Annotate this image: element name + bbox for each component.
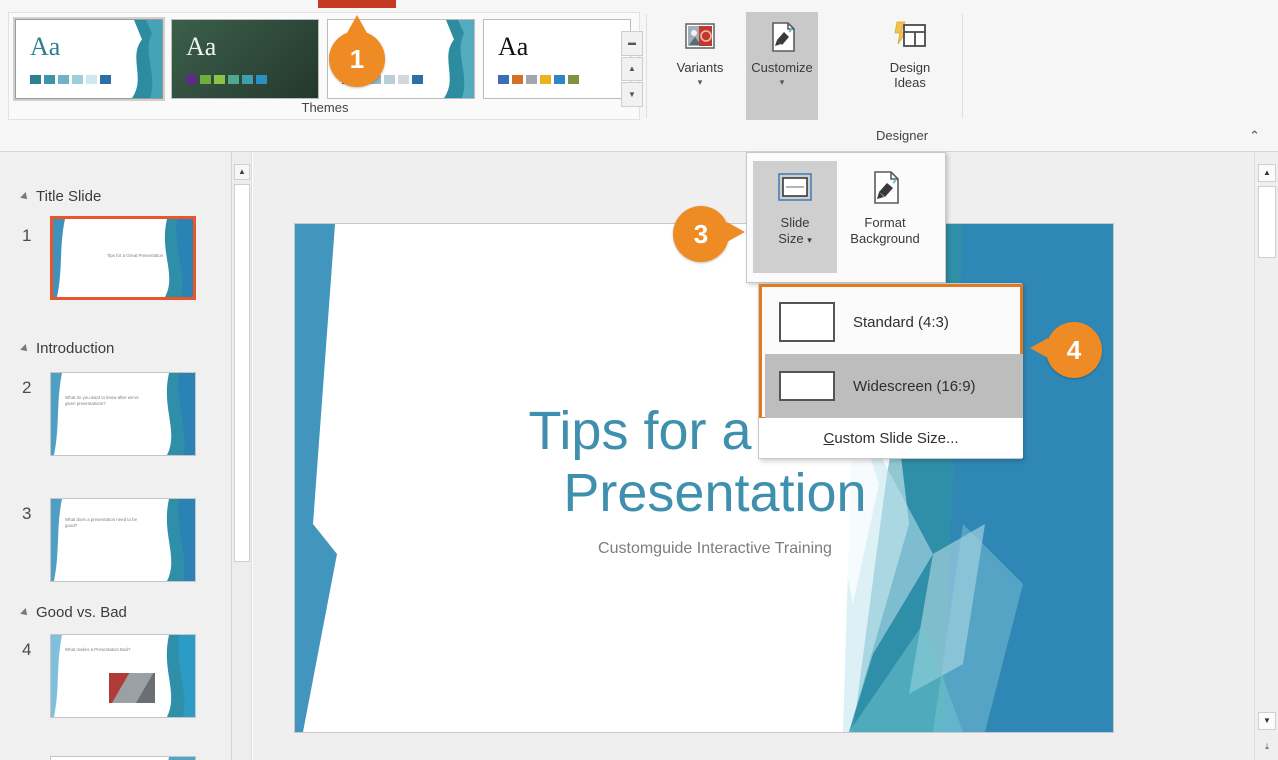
thumb-wave-right-icon <box>161 373 195 455</box>
design-ideas-button[interactable]: Design Ideas <box>874 12 946 120</box>
slide-thumbnail-5[interactable] <box>50 756 196 760</box>
widescreen-ratio-icon <box>779 371 835 401</box>
slide-thumbnail-4[interactable]: What makes a Presentation Bad? <box>50 634 196 718</box>
chevron-down-icon: ▾ <box>698 77 703 88</box>
section-label: Good vs. Bad <box>36 604 127 621</box>
variants-label: Variants <box>677 60 724 75</box>
thumb-preview-text: What makes a Presentation Bad? <box>65 647 155 653</box>
theme-tile-2[interactable]: Aa <box>171 19 319 99</box>
variants-icon <box>683 20 717 54</box>
group-separator <box>962 14 963 118</box>
customize-button[interactable]: Customize ▾ <box>746 12 818 120</box>
callout-pointer-icon <box>1030 338 1048 358</box>
theme-swatches <box>498 75 579 84</box>
themes-gallery-group: Aa Aa Aa <box>8 12 640 120</box>
scroll-up-button[interactable]: ▲ <box>1258 164 1276 182</box>
slide-size-flyout-menu: Standard (4:3) Widescreen (16:9) Custom … <box>758 283 1022 459</box>
design-ideas-icon <box>893 20 927 54</box>
widescreen-option-label: Widescreen (16:9) <box>853 378 976 395</box>
customize-label: Customize <box>751 60 812 75</box>
design-ideas-label-line2: Ideas <box>894 75 926 90</box>
next-slide-button[interactable]: ⤓ <box>1258 738 1276 756</box>
thumbnail-pane-scrollbar[interactable]: ▲ <box>232 152 252 760</box>
thumb-wave-left-icon <box>51 373 65 455</box>
thumb-photo-placeholder <box>109 673 155 703</box>
slide-number-4: 4 <box>22 640 31 660</box>
thumb-wave-left-icon <box>53 219 67 297</box>
format-background-icon <box>866 169 904 207</box>
scrollbar-thumb[interactable] <box>234 184 250 562</box>
thumb-wave-left-icon <box>51 499 65 581</box>
section-introduction[interactable]: Introduction <box>22 340 114 357</box>
theme-wave-icon <box>436 20 475 98</box>
theme-sample-text: Aa <box>30 32 60 62</box>
customize-dropdown-menu: Slide Size ▾ Format Background <box>746 152 946 283</box>
callout-badge-number: 1 <box>350 44 364 75</box>
themes-scroll-up-button[interactable]: ▬ <box>621 31 643 56</box>
callout-badge-1: 1 <box>329 31 385 87</box>
slide-thumbnail-3[interactable]: What does a presentation need to be good… <box>50 498 196 582</box>
section-label: Title Slide <box>36 188 101 205</box>
theme-swatches <box>186 75 267 84</box>
section-title-slide[interactable]: Title Slide <box>22 188 101 205</box>
collapse-triangle-icon <box>20 344 30 354</box>
themes-group-label: Themes <box>9 100 641 115</box>
chevron-down-icon: ▾ <box>780 77 785 88</box>
slide-size-icon <box>776 169 814 207</box>
thumb-wave-right-icon <box>161 499 195 581</box>
thumb-wave-right-icon <box>161 635 195 717</box>
slide-size-options-highlight: Standard (4:3) Widescreen (16:9) <box>759 284 1023 420</box>
collapse-ribbon-button[interactable]: ⌃ <box>1243 127 1266 145</box>
theme-swatches <box>30 75 111 84</box>
themes-scroll-down-button[interactable]: ▲ <box>621 57 643 82</box>
callout-pointer-icon <box>727 222 745 242</box>
slide-thumbnail-2[interactable]: What do you want to know after we've giv… <box>50 372 196 456</box>
slide-size-menu-item[interactable]: Slide Size ▾ <box>753 161 837 273</box>
ribbon-design-tab: Aa Aa Aa <box>0 0 1278 152</box>
callout-badge-number: 3 <box>694 219 708 250</box>
custom-slide-size-label: ustom Slide Size... <box>834 430 958 447</box>
section-label: Introduction <box>36 340 114 357</box>
themes-gallery-nav: ▬ ▲ ▼ <box>621 31 643 107</box>
slide-size-label-line1: Slide <box>781 215 810 231</box>
slide-number-1: 1 <box>22 226 31 246</box>
slide-number-2: 2 <box>22 378 31 398</box>
format-background-label-line2: Background <box>850 231 919 247</box>
thumb-preview-text: What does a presentation need to be good… <box>65 517 141 529</box>
scroll-down-button[interactable]: ▼ <box>1258 712 1276 730</box>
section-good-vs-bad[interactable]: Good vs. Bad <box>22 604 127 621</box>
slide-number-3: 3 <box>22 504 31 524</box>
format-background-menu-item[interactable]: Format Background <box>843 161 927 273</box>
custom-slide-size-mnemonic: C <box>823 430 834 447</box>
slide-thumbnail-pane[interactable]: Title Slide 1 Tips for a Great Presentat… <box>0 152 232 760</box>
group-separator <box>646 14 647 118</box>
callout-badge-4: 4 <box>1046 322 1102 378</box>
slide-title-line2: Presentation <box>405 462 1025 524</box>
design-ideas-label-line1: Design <box>890 60 930 75</box>
theme-tile-4[interactable]: Aa <box>483 19 631 99</box>
theme-tile-1[interactable]: Aa <box>15 19 163 99</box>
themes-gallery-strip: Aa Aa Aa <box>15 19 631 99</box>
callout-badge-3: 3 <box>673 206 729 262</box>
designer-group-label: Designer <box>876 128 928 143</box>
variants-button[interactable]: Variants ▾ <box>664 12 736 120</box>
slide-left-wedge-decoration <box>295 224 391 732</box>
custom-slide-size-item[interactable]: Custom Slide Size... <box>759 418 1023 458</box>
slide-size-option-widescreen[interactable]: Widescreen (16:9) <box>765 354 1023 418</box>
scrollbar-thumb[interactable] <box>1258 186 1276 258</box>
customize-icon <box>765 20 799 54</box>
theme-sample-text: Aa <box>186 32 216 62</box>
scroll-up-button[interactable]: ▲ <box>234 164 250 180</box>
active-tab-indicator <box>318 0 396 8</box>
canvas-scrollbar[interactable]: ▲ ▼ ⤓ <box>1254 152 1278 760</box>
slide-size-option-standard[interactable]: Standard (4:3) <box>765 290 1023 354</box>
collapse-triangle-icon <box>20 192 30 202</box>
slide-subtitle-text[interactable]: Customguide Interactive Training <box>405 540 1025 558</box>
slide-size-label-line2: Size ▾ <box>778 231 811 248</box>
format-background-label-line1: Format <box>864 215 905 231</box>
slide-thumbnail-1[interactable]: Tips for a Great Presentation <box>50 216 196 300</box>
thumb-wave-left-icon <box>51 635 65 717</box>
theme-wave-icon <box>124 20 163 98</box>
powerpoint-window: Aa Aa Aa <box>0 0 1278 760</box>
theme-sample-text: Aa <box>498 32 528 62</box>
standard-ratio-icon <box>779 302 835 342</box>
standard-option-label: Standard (4:3) <box>853 314 949 331</box>
collapse-triangle-icon <box>20 608 30 618</box>
slide-title-line2-wrap[interactable]: Presentation <box>405 462 1025 524</box>
callout-badge-number: 4 <box>1067 335 1081 366</box>
callout-pointer-icon <box>347 15 367 33</box>
chevron-down-icon: ▾ <box>807 235 812 245</box>
thumb-preview-text: Tips for a Great Presentation <box>105 253 165 259</box>
thumb-preview-text: What do you want to know after we've giv… <box>65 395 141 407</box>
